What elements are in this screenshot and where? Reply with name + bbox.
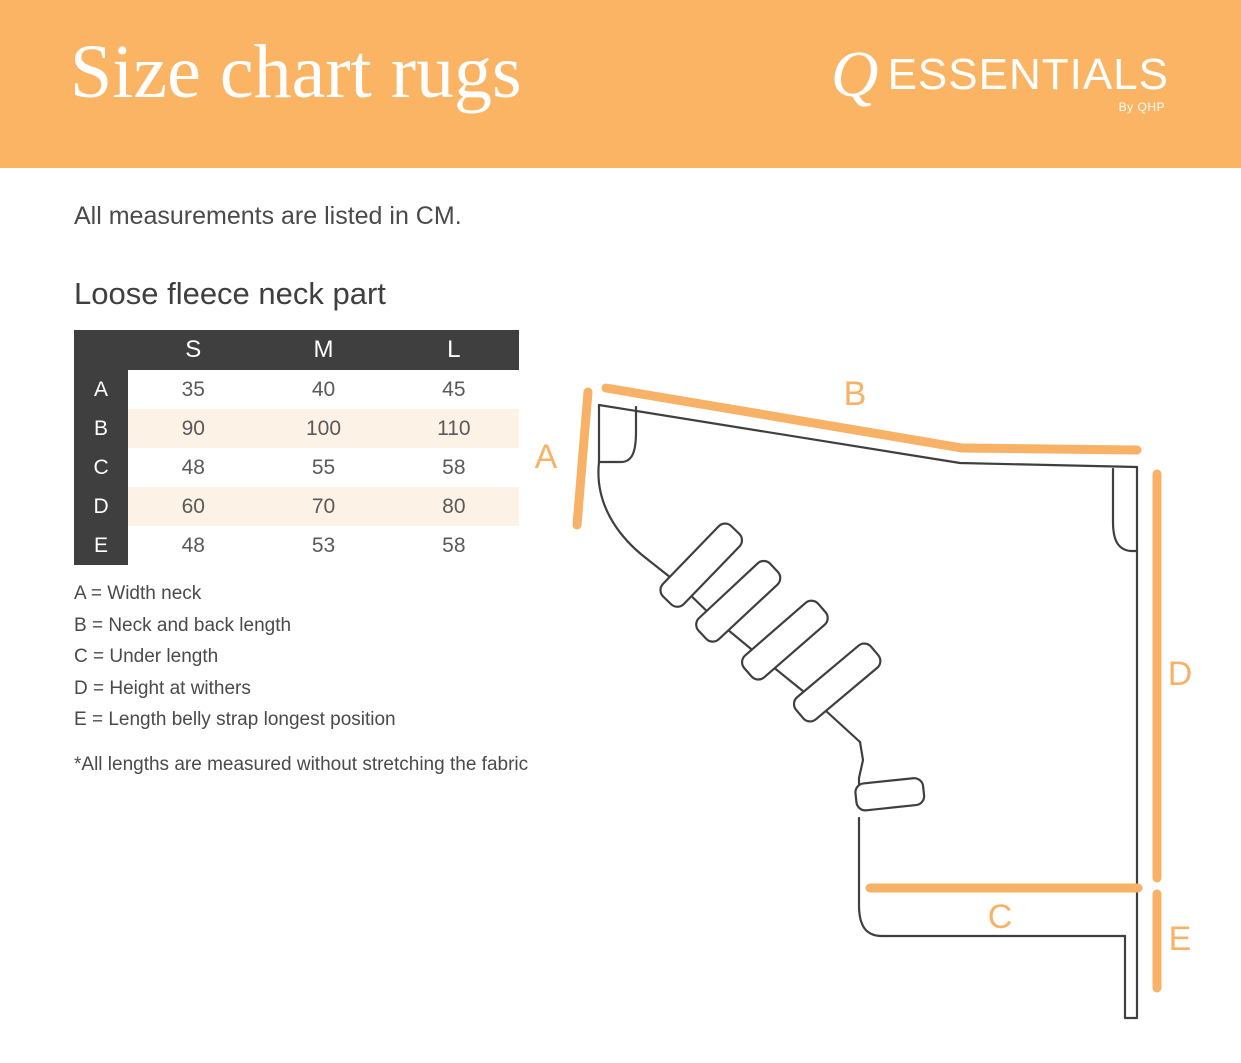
legend-item-d: D = Height at withers <box>74 673 396 705</box>
table-row: A 35 40 45 <box>74 370 519 409</box>
legend-item-a: A = Width neck <box>74 578 396 610</box>
measurement-legend: A = Width neck B = Neck and back length … <box>74 578 396 736</box>
cell-b-s: 90 <box>128 409 258 448</box>
legend-item-c: C = Under length <box>74 641 396 673</box>
measure-label-e: E <box>1169 920 1192 958</box>
belly-strap-tab <box>855 777 925 811</box>
cell-d-s: 60 <box>128 487 258 526</box>
strap-tabs <box>657 520 925 811</box>
strap-tab-3 <box>738 597 831 683</box>
table-corner-cell <box>74 330 128 370</box>
cell-e-l: 58 <box>389 526 519 565</box>
cell-b-l: 110 <box>389 409 519 448</box>
legend-item-e: E = Length belly strap longest position <box>74 704 396 736</box>
rug-diagram: A B C D E <box>530 370 1230 1020</box>
cell-c-m: 55 <box>258 448 388 487</box>
table-row: C 48 55 58 <box>74 448 519 487</box>
table-row: B 90 100 110 <box>74 409 519 448</box>
table-header-row: S M L <box>74 330 519 370</box>
column-header-l: L <box>389 330 519 370</box>
measure-label-c: C <box>988 898 1013 936</box>
column-header-m: M <box>258 330 388 370</box>
row-label-c: C <box>74 448 128 487</box>
brand-logo: Q ESSENTIALS By QHP <box>869 46 1169 126</box>
logo-essentials-text: ESSENTIALS <box>888 52 1169 98</box>
size-chart-table: S M L A 35 40 45 B 90 100 110 C 48 55 58… <box>74 330 519 565</box>
logo-wordmark: Q ESSENTIALS <box>869 46 1169 104</box>
measure-label-b: B <box>844 375 867 413</box>
rug-outline <box>598 405 1137 1018</box>
measure-label-a: A <box>535 438 558 476</box>
table-body: A 35 40 45 B 90 100 110 C 48 55 58 D 60 … <box>74 370 519 565</box>
logo-subtitle: By QHP <box>869 100 1169 114</box>
row-label-a: A <box>74 370 128 409</box>
row-label-b: B <box>74 409 128 448</box>
cell-c-s: 48 <box>128 448 258 487</box>
cell-d-m: 70 <box>258 487 388 526</box>
cell-a-l: 45 <box>389 370 519 409</box>
measure-line-a <box>577 392 588 525</box>
cell-e-s: 48 <box>128 526 258 565</box>
cell-a-s: 35 <box>128 370 258 409</box>
column-header-s: S <box>128 330 258 370</box>
cell-c-l: 58 <box>389 448 519 487</box>
measurement-unit-note: All measurements are listed in CM. <box>74 202 462 231</box>
cell-b-m: 100 <box>258 409 388 448</box>
row-label-e: E <box>74 526 128 565</box>
cell-a-m: 40 <box>258 370 388 409</box>
cell-e-m: 53 <box>258 526 388 565</box>
section-title: Loose fleece neck part <box>74 276 386 312</box>
table-row: E 48 53 58 <box>74 526 519 565</box>
legend-item-b: B = Neck and back length <box>74 610 396 642</box>
page-title: Size chart rugs <box>70 34 522 110</box>
table-row: D 60 70 80 <box>74 487 519 526</box>
measurement-lines <box>577 388 1157 988</box>
strap-tab-4 <box>790 640 884 725</box>
logo-q-mark: Q <box>831 46 879 104</box>
table-header: S M L <box>74 330 519 370</box>
cell-d-l: 80 <box>389 487 519 526</box>
measure-label-d: D <box>1168 655 1193 693</box>
footnote: *All lengths are measured without stretc… <box>74 754 528 776</box>
row-label-d: D <box>74 487 128 526</box>
